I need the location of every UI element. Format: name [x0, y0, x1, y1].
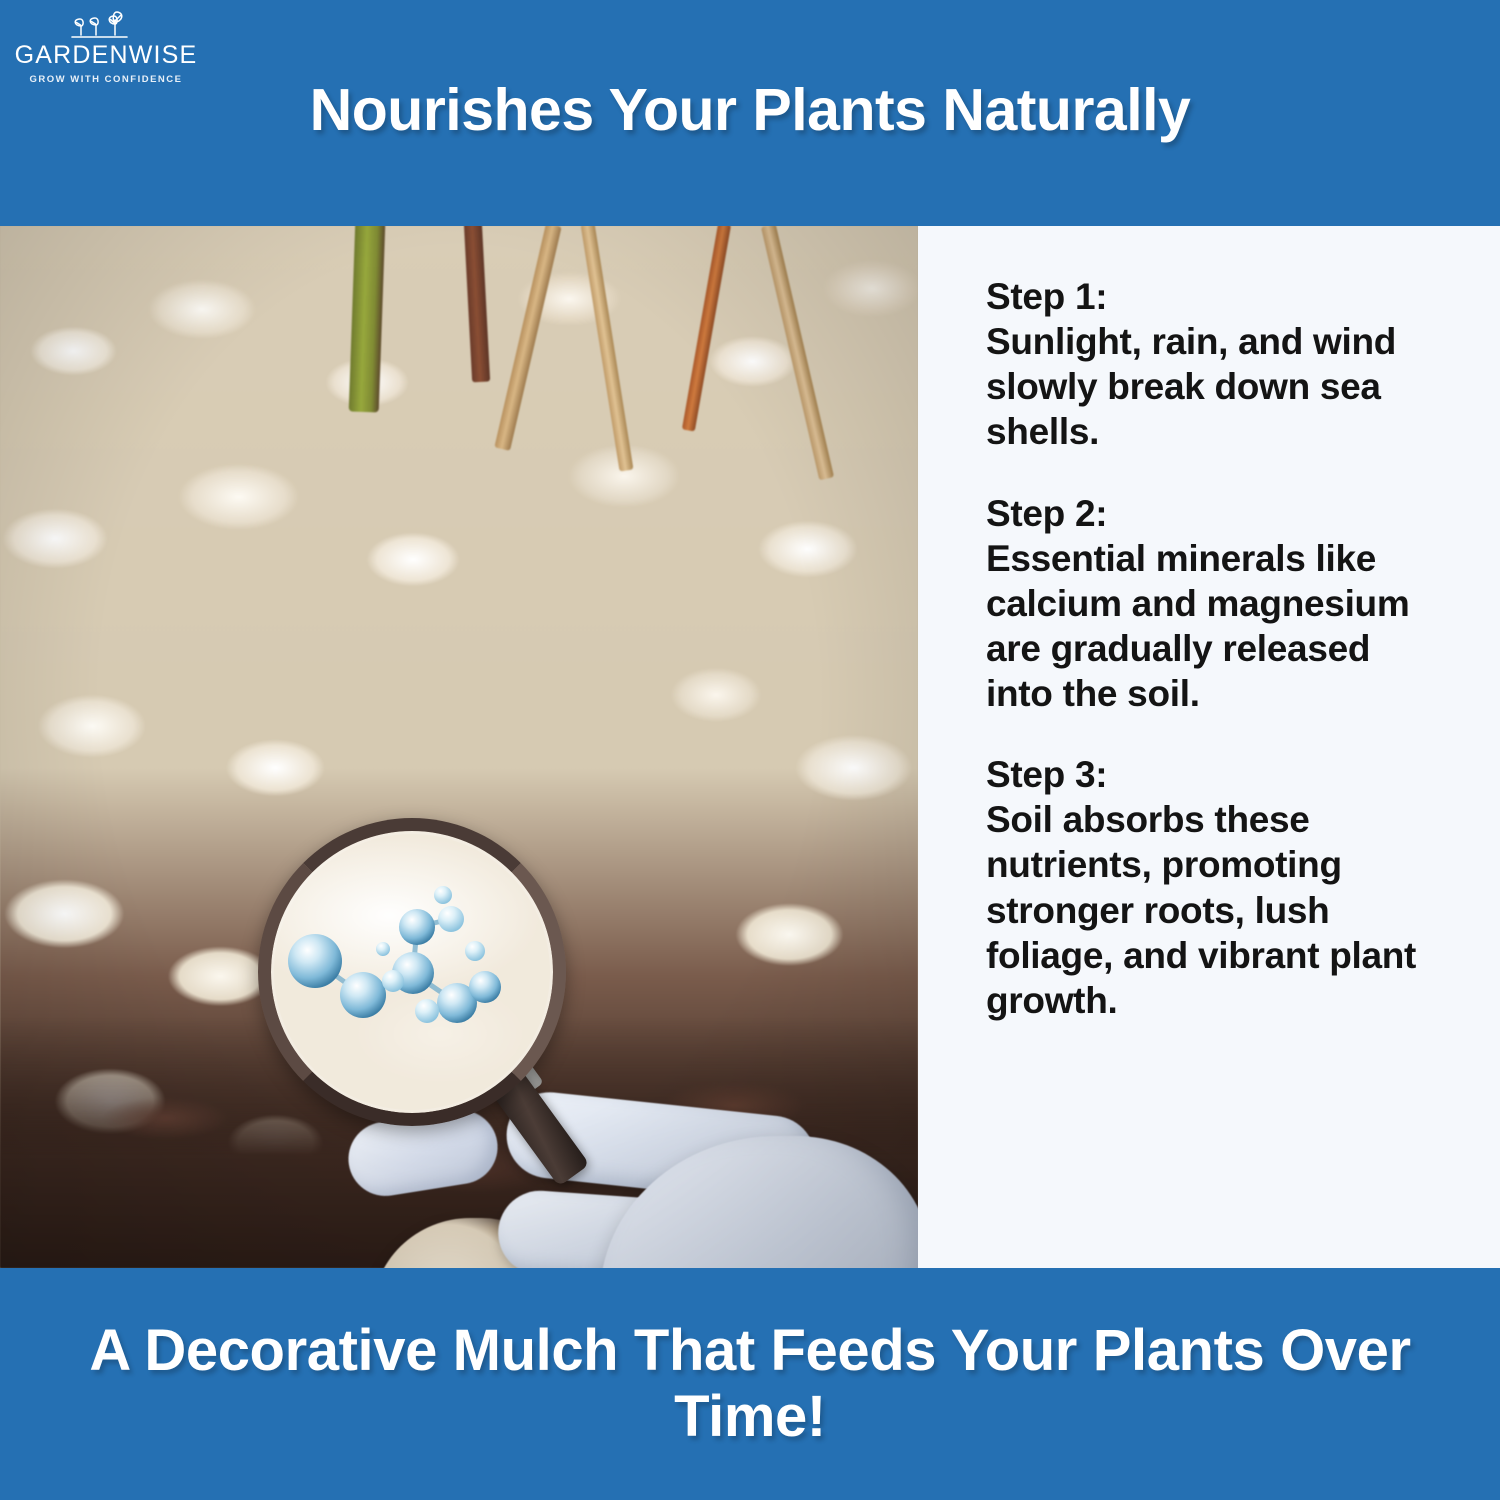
magnifier-rim: [258, 818, 566, 1126]
footer-banner: A Decorative Mulch That Feeds Your Plant…: [0, 1268, 1500, 1500]
footer-tagline: A Decorative Mulch That Feeds Your Plant…: [40, 1318, 1460, 1450]
step-3: Step 3: Soil absorbs these nutrients, pr…: [986, 752, 1446, 1023]
steps-panel: Step 1: Sunlight, rain, and wind slowly …: [918, 226, 1500, 1268]
step-2: Step 2: Essential minerals like calcium …: [986, 491, 1446, 717]
step-2-body: Essential minerals like calcium and magn…: [986, 536, 1446, 717]
magnifying-glass-icon: [258, 818, 566, 1126]
step-1-label: Step 1:: [986, 274, 1446, 319]
seedling-sprouts-icon: [69, 8, 143, 42]
page-title: Nourishes Your Plants Naturally: [0, 78, 1500, 143]
step-2-label: Step 2:: [986, 491, 1446, 536]
header-banner: GARDENWISE GROW WITH CONFIDENCE Nourishe…: [0, 0, 1500, 226]
step-1: Step 1: Sunlight, rain, and wind slowly …: [986, 274, 1446, 455]
brand-name: GARDENWISE: [15, 43, 198, 68]
content-section: Step 1: Sunlight, rain, and wind slowly …: [0, 226, 1500, 1268]
brand-logo: GARDENWISE GROW WITH CONFIDENCE: [16, 8, 196, 86]
step-1-body: Sunlight, rain, and wind slowly break do…: [986, 319, 1446, 454]
step-3-label: Step 3:: [986, 752, 1446, 797]
step-3-body: Soil absorbs these nutrients, promoting …: [986, 797, 1446, 1023]
product-infographic: GARDENWISE GROW WITH CONFIDENCE Nourishe…: [0, 0, 1500, 1500]
product-photo: [0, 226, 918, 1268]
